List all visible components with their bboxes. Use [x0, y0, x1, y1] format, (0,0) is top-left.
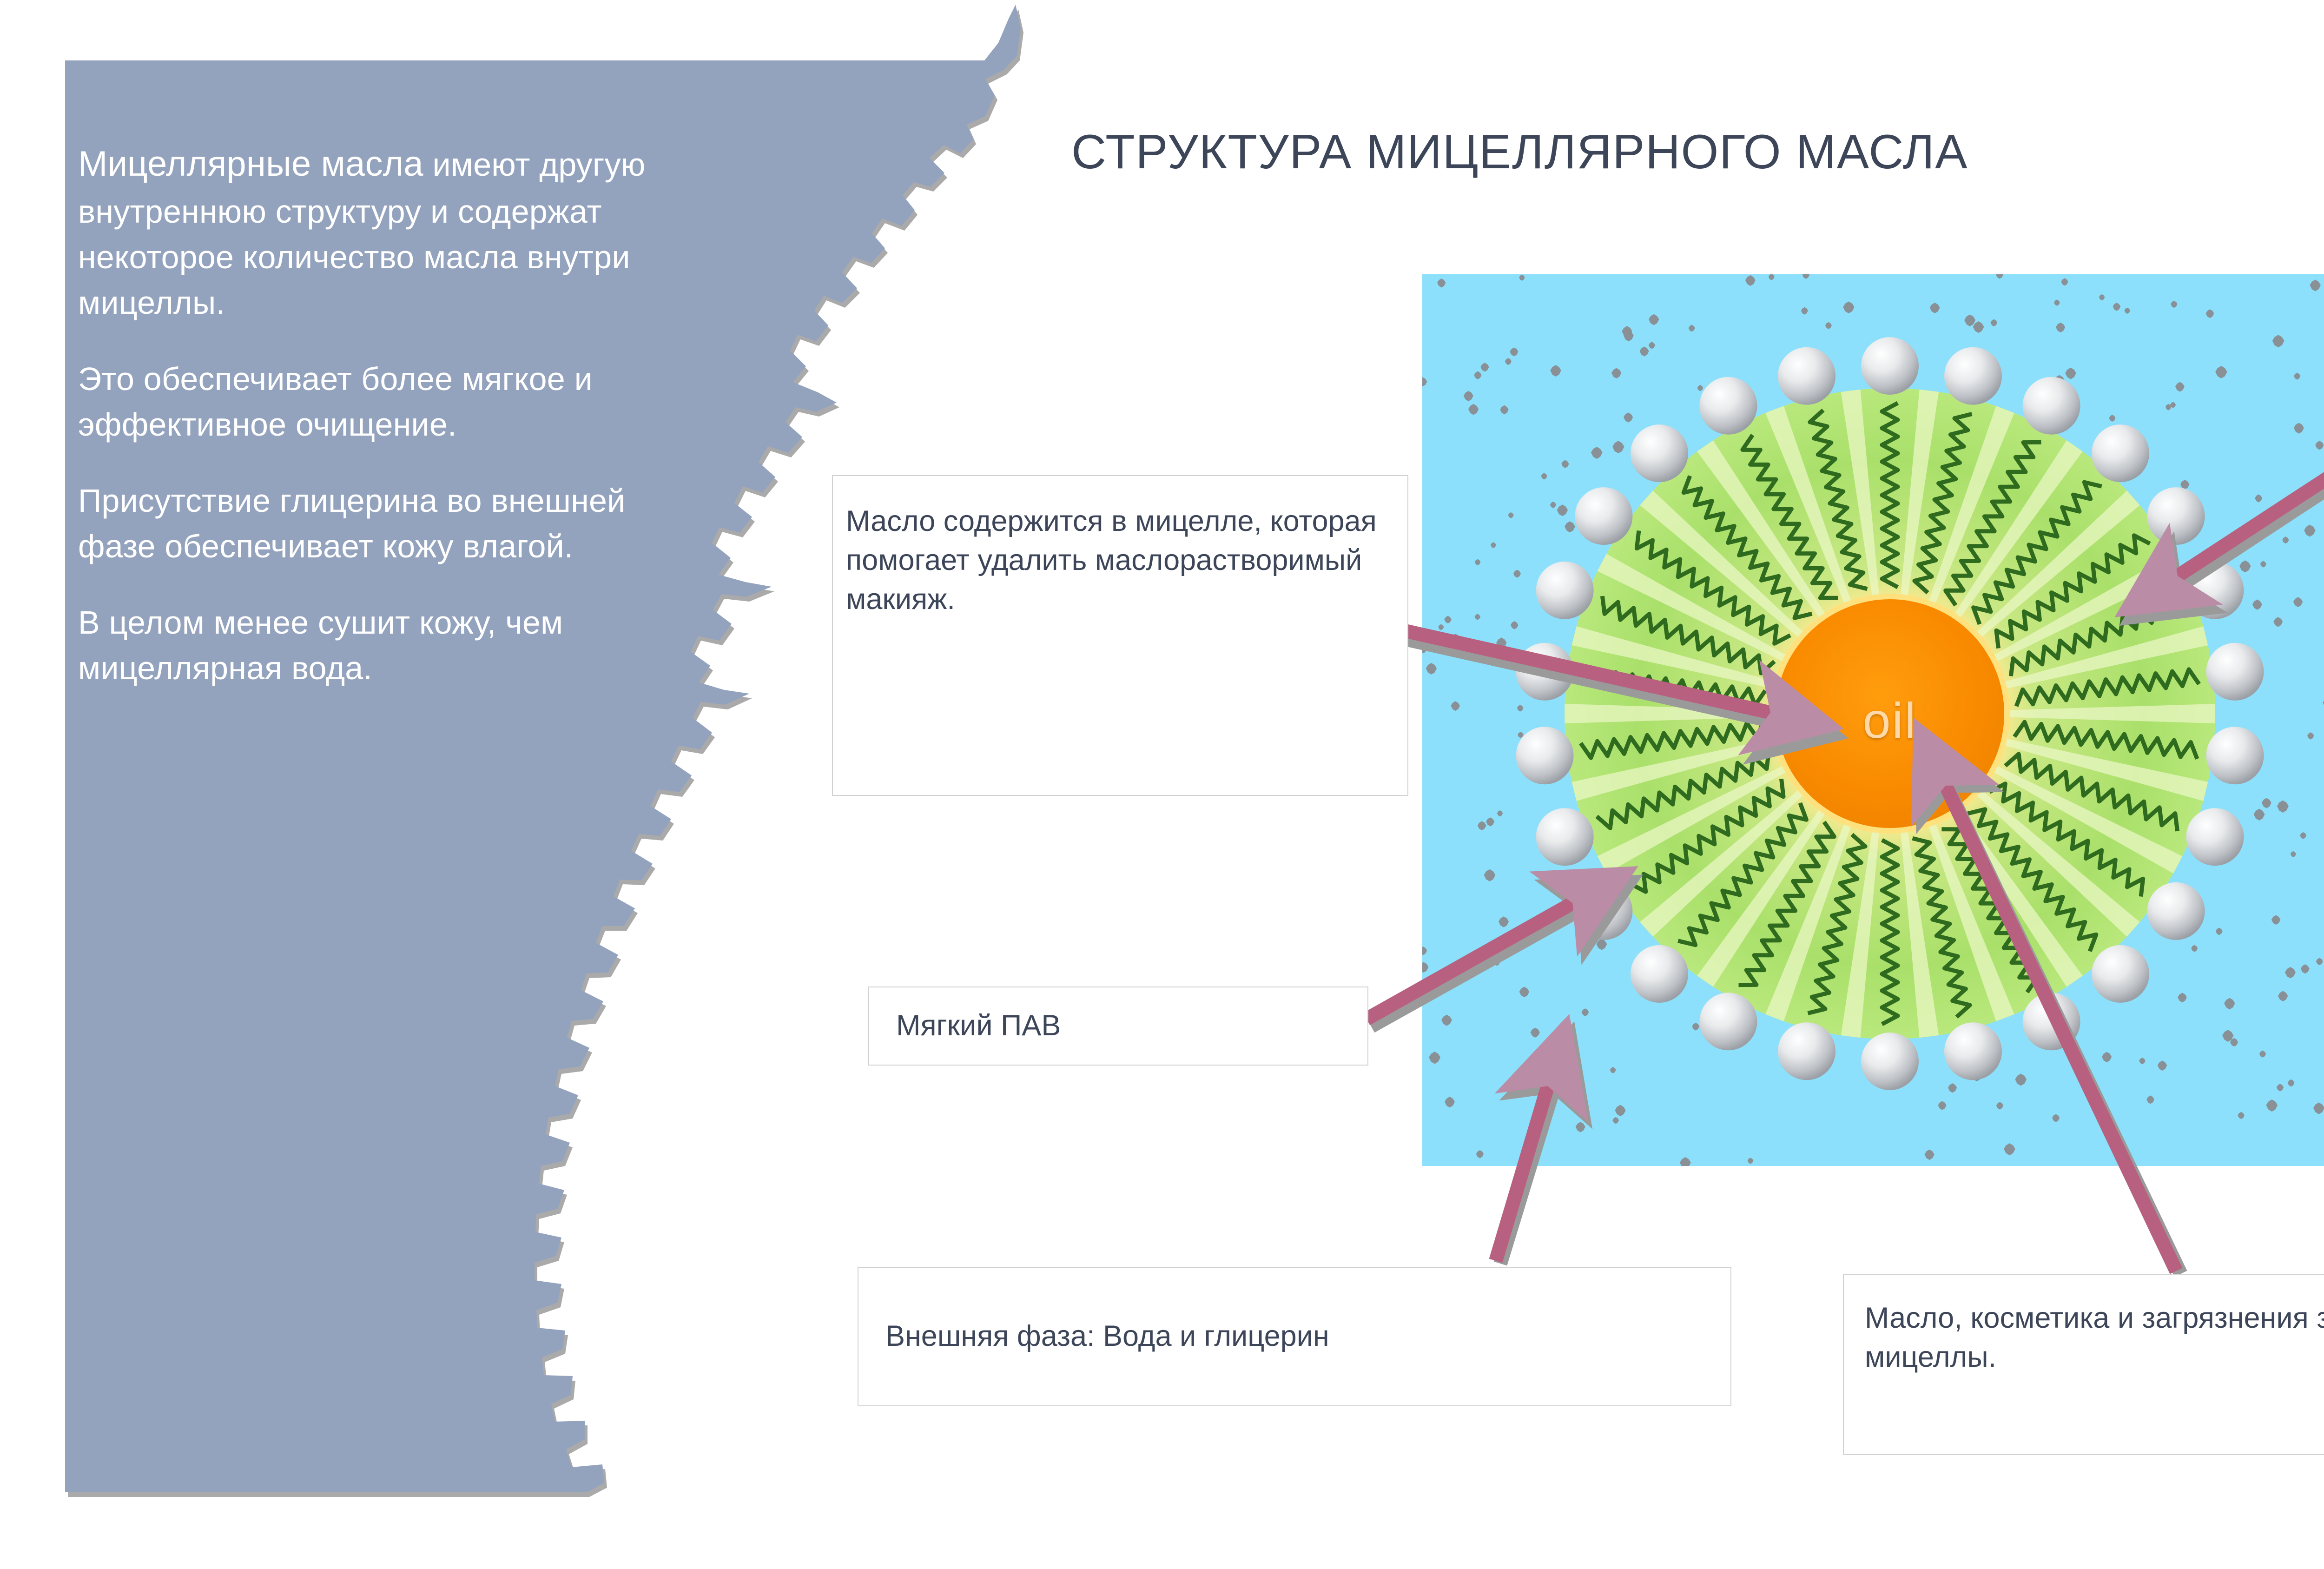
sidebar-body-text: Мицеллярные масла имеют другую внутренню… — [78, 139, 682, 722]
page-title: СТРУКТУРА МИЦЕЛЛЯРНОГО МАСЛА — [1071, 125, 1968, 180]
sidebar-paragraph-3: Присутствие глицерина во внешней фазе об… — [78, 478, 682, 569]
sidebar-paragraph-2: Это обеспечивает более мягкое и эффектив… — [78, 356, 682, 447]
callout-outer-phase[interactable]: Внешняя фаза: Вода и глицерин — [858, 1267, 1731, 1406]
sidebar-paragraph-1-lead: Мицеллярные масла — [78, 144, 423, 184]
micelle-diagram-image: oil — [1422, 274, 2324, 1166]
oil-core — [1776, 599, 2004, 828]
sidebar-paragraph-4: В целом менее сушит кожу, чем мицеллярна… — [78, 600, 682, 691]
callout-mild-surfactant[interactable]: Мягкий ПАВ — [868, 986, 1368, 1066]
callout-core-traps[interactable]: Масло, косметика и загрязнения задержива… — [1843, 1274, 2324, 1455]
micelle-graphic — [1422, 274, 2324, 1166]
callout-oil-in-micelle[interactable]: Масло содержится в мицелле, которая помо… — [832, 475, 1408, 796]
sidebar-paragraph-1: Мицеллярные масла имеют другую внутренню… — [78, 139, 682, 325]
